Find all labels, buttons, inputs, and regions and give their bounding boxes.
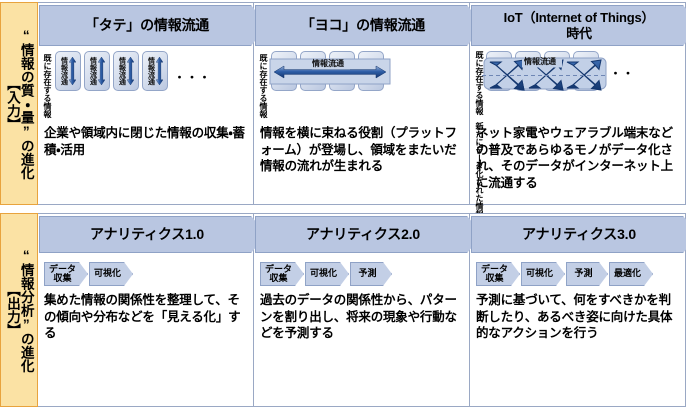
info-node	[329, 51, 355, 91]
output-columns: アナリティクス1.0 データ 収集 可視化 集めた情報の関係性を整理して、その傾…	[38, 213, 686, 407]
row-input: “情報の質・量”の進化 【入力】 「タテ」の情報流通 既に存在する情報	[0, 2, 686, 205]
chevron-header-analytics-1[interactable]: アナリティクス1.0	[38, 214, 253, 254]
existing-info-text: 既に存在する情報	[259, 54, 267, 118]
info-node: 情報流通	[55, 51, 81, 91]
evolution-diagram: “情報の質・量”の進化 【入力】 「タテ」の情報流通 既に存在する情報	[0, 0, 686, 409]
column-iot: IoT（Internet of Things） 時代 既に存在する情報 新たにデ…	[469, 3, 685, 204]
info-node-label: 情報流通	[148, 57, 155, 85]
info-node: 情報流通	[113, 51, 139, 91]
info-node	[300, 51, 326, 91]
ellipsis-tate: ・・・	[174, 69, 212, 85]
side-label-input: “情報の質・量”の進化 【入力】	[0, 2, 38, 205]
row-output: “情報分析”の進化 【出力】 アナリティクス1.0 データ 収集 可視化	[0, 213, 686, 407]
info-node-label: 情報流通	[119, 57, 126, 85]
new-info-label-iot: 新たにデータ化された情報	[475, 122, 483, 218]
vertical-double-arrow-icon	[156, 56, 163, 86]
badge-visualization[interactable]: 可視化	[89, 262, 133, 286]
chevron-header-yoko[interactable]: 「ヨコ」の情報流通	[254, 3, 469, 47]
vertical-double-arrow-icon	[127, 56, 134, 86]
info-node	[486, 51, 512, 91]
chevron-title-yoko: 「ヨコ」の情報流通	[301, 17, 437, 34]
badge-label: 可視化	[526, 269, 553, 278]
existing-info-text: 既に存在する情報	[43, 54, 51, 118]
new-info-text: 新たにデータ化された情報	[475, 122, 483, 218]
graphic-yoko: 既に存在する情報	[254, 47, 469, 119]
vertical-double-arrow-icon	[98, 56, 105, 86]
iot-side-labels: 既に存在する情報 新たにデータ化された情報	[475, 51, 483, 218]
info-node: 情報流通	[142, 51, 168, 91]
badge-label: データ 収集	[49, 265, 76, 283]
node-group-yoko: 情報流通	[271, 51, 384, 91]
chevron-title-analytics-1: アナリティクス1.0	[90, 226, 216, 243]
badge-label: 可視化	[310, 269, 337, 278]
graphic-iot: 既に存在する情報 新たにデータ化された情報	[470, 47, 685, 119]
body-text-analytics-3: 予測に基づいて、何をすべきかを判断したり、あるべき姿に向けた具体的なアクションを…	[470, 288, 685, 406]
badge-data-collection[interactable]: データ 収集	[260, 262, 304, 286]
existing-info-text: 既に存在する情報	[475, 51, 483, 115]
node-group-tate: 情報流通 情報流通	[55, 51, 212, 91]
badge-data-collection[interactable]: データ 収集	[44, 262, 88, 286]
side-label-input-bracket: 【入力】	[5, 77, 19, 131]
body-text-analytics-2: 過去のデータの関係性から、パターンを割り出し、将来の現象や行動などを予測する	[254, 288, 469, 406]
badge-label: データ 収集	[265, 265, 292, 283]
column-analytics-3: アナリティクス3.0 データ 収集 可視化 予測 最適化	[469, 214, 685, 406]
chevron-title-iot: IoT（Internet of Things） 時代	[504, 10, 667, 41]
info-node-label: 情報流通	[90, 57, 97, 85]
side-label-output: “情報分析”の進化 【出力】	[0, 213, 38, 407]
badge-prediction[interactable]: 予測	[566, 262, 608, 286]
side-label-output-main: “情報分析”の進化	[19, 248, 33, 373]
body-text-yoko: 情報を横に束ねる役割（プラットフォーム）が登場し、領域をまたいだ情報の流れが生ま…	[254, 119, 469, 204]
badge-optimization[interactable]: 最適化	[609, 262, 653, 286]
existing-info-label-tate: 既に存在する情報	[43, 54, 51, 118]
body-text-iot: ネット家電やウェアラブル端末などの普及であらゆるモノがデータ化され、そのデータが…	[470, 119, 685, 204]
badge-prediction[interactable]: 予測	[350, 262, 392, 286]
existing-info-label-yoko: 既に存在する情報	[259, 54, 267, 118]
badge-label: 予測	[575, 269, 593, 278]
info-node	[515, 51, 541, 91]
info-node: 情報流通	[84, 51, 110, 91]
chevron-header-iot[interactable]: IoT（Internet of Things） 時代	[470, 3, 685, 47]
column-tate: 「タテ」の情報流通 既に存在する情報 情報流通	[38, 3, 253, 204]
info-node	[358, 51, 384, 91]
badge-label: 最適化	[614, 269, 641, 278]
badge-group-analytics-3: データ 収集 可視化 予測 最適化	[470, 254, 685, 288]
side-label-output-bracket: 【出力】	[5, 283, 19, 337]
vertical-double-arrow-icon	[69, 56, 76, 86]
side-label-input-main: “情報の質・量”の進化	[19, 28, 33, 180]
chevron-title-analytics-2: アナリティクス2.0	[306, 226, 432, 243]
chevron-header-tate[interactable]: 「タテ」の情報流通	[38, 3, 253, 47]
badge-label: データ 収集	[481, 265, 508, 283]
column-analytics-1: アナリティクス1.0 データ 収集 可視化 集めた情報の関係性を整理して、その傾…	[38, 214, 253, 406]
info-node	[271, 51, 297, 91]
input-columns: 「タテ」の情報流通 既に存在する情報 情報流通	[38, 2, 686, 205]
badge-visualization[interactable]: 可視化	[305, 262, 349, 286]
badge-label: 予測	[359, 269, 377, 278]
info-node	[573, 51, 599, 91]
info-node-label: 情報流通	[61, 57, 68, 85]
ellipsis-iot: ・・	[610, 65, 635, 81]
badge-visualization[interactable]: 可視化	[521, 262, 565, 286]
node-group-iot: 情報流通 ・・	[486, 51, 599, 91]
badge-label: 可視化	[94, 269, 121, 278]
column-analytics-2: アナリティクス2.0 データ 収集 可視化 予測 過去のデータの関係性から、パタ…	[253, 214, 469, 406]
chevron-header-analytics-3[interactable]: アナリティクス3.0	[470, 214, 685, 254]
badge-group-analytics-2: データ 収集 可視化 予測	[254, 254, 469, 288]
chevron-header-analytics-2[interactable]: アナリティクス2.0	[254, 214, 469, 254]
column-yoko: 「ヨコ」の情報流通 既に存在する情報	[253, 3, 469, 204]
existing-info-label-iot: 既に存在する情報	[475, 51, 483, 115]
body-text-tate: 企業や領域内に閉じた情報の収集・蓄積・活用	[38, 119, 253, 204]
info-node	[544, 51, 570, 91]
chevron-title-analytics-3: アナリティクス3.0	[522, 226, 648, 243]
badge-group-analytics-1: データ 収集 可視化	[38, 254, 253, 288]
chevron-title-tate: 「タテ」の情報流通	[85, 17, 221, 34]
graphic-tate: 既に存在する情報 情報流通	[38, 47, 253, 119]
badge-data-collection[interactable]: データ 収集	[476, 262, 520, 286]
body-text-analytics-1: 集めた情報の関係性を整理して、その傾向や分布などを「見える化」する	[38, 288, 253, 406]
